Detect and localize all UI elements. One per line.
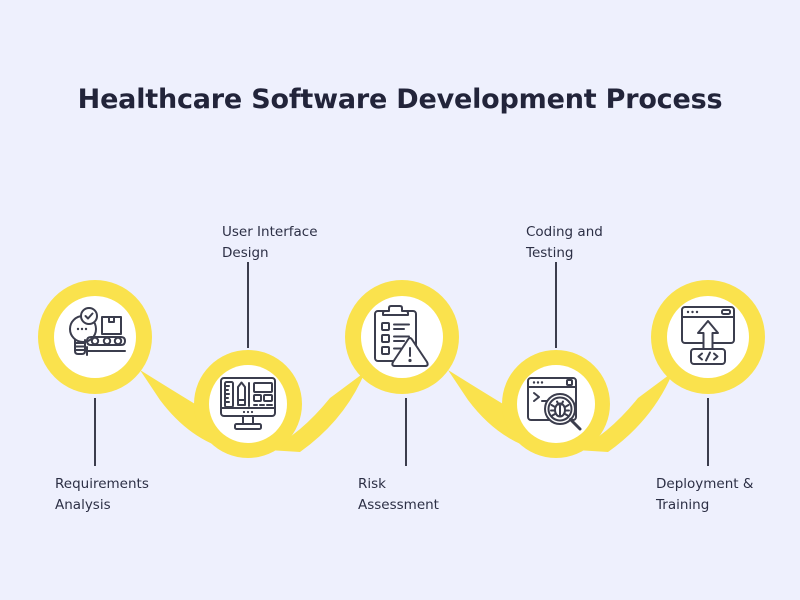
- infographic-canvas: Healthcare Software Development Process: [0, 0, 800, 600]
- browser-upload-code-deploy-icon: [677, 303, 739, 369]
- step-label-2: User Interface Design: [222, 222, 318, 264]
- step-label-3: Risk Assessment: [358, 474, 439, 516]
- browser-terminal-bug-magnifier-icon: [524, 372, 588, 436]
- step-label-1: Requirements Analysis: [55, 474, 149, 516]
- clipboard-checklist-warning-icon: [370, 304, 434, 370]
- monitor-ruler-pencil-wireframe-icon: [216, 372, 280, 436]
- step-label-5: Deployment & Training: [656, 474, 753, 516]
- magnifier-checklist-conveyor-box-icon: [61, 303, 129, 371]
- step-label-4: Coding and Testing: [526, 222, 603, 264]
